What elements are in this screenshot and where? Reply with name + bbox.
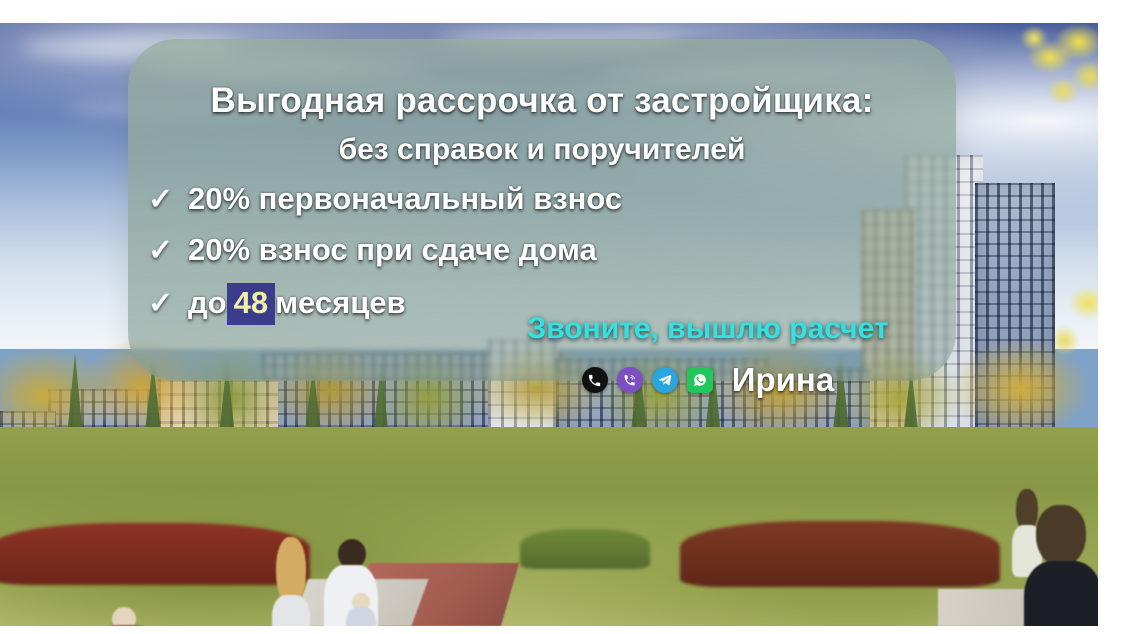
subheadline: без справок и поручителей bbox=[128, 133, 956, 167]
person-woman-left bbox=[268, 537, 314, 626]
green-hedge bbox=[520, 529, 650, 569]
red-hedge-right bbox=[680, 521, 1000, 587]
check-icon: ✓ bbox=[148, 233, 188, 268]
advertisement-page: Выгодная рассрочка от застройщика: без с… bbox=[0, 0, 1121, 634]
torso bbox=[1024, 561, 1098, 626]
contact-row: Ирина bbox=[488, 361, 928, 399]
torso bbox=[98, 625, 154, 626]
list-item-label-after: месяцев bbox=[275, 285, 405, 321]
list-item-label: 20% первоначальный взнос bbox=[188, 181, 622, 217]
check-icon: ✓ bbox=[148, 286, 188, 321]
hair bbox=[1036, 505, 1086, 567]
torso bbox=[346, 607, 376, 626]
head bbox=[112, 607, 136, 626]
person-child bbox=[342, 593, 380, 626]
torso bbox=[272, 595, 310, 626]
list-item-label-before: до bbox=[188, 285, 227, 321]
person-seated-left bbox=[96, 607, 156, 626]
contact-name: Ирина bbox=[732, 361, 834, 399]
whatsapp-icon[interactable] bbox=[687, 367, 713, 393]
red-hedge-left bbox=[0, 523, 310, 585]
telegram-icon[interactable] bbox=[652, 367, 678, 393]
list-item-label: 20% взнос при сдаче дома bbox=[188, 232, 597, 268]
list-item: ✓ 20% первоначальный взнос bbox=[148, 181, 788, 232]
list-item: ✓ 20% взнос при сдаче дома bbox=[148, 232, 788, 283]
viber-icon[interactable] bbox=[617, 367, 643, 393]
phone-icon[interactable] bbox=[582, 367, 608, 393]
offer-copy: Выгодная рассрочка от застройщика: без с… bbox=[128, 39, 956, 399]
call-to-action: Звоните, вышлю расчет bbox=[488, 312, 928, 346]
headline: Выгодная рассрочка от застройщика: bbox=[128, 81, 956, 121]
selected-term-highlight[interactable]: 48 bbox=[227, 283, 275, 325]
check-icon: ✓ bbox=[148, 182, 188, 217]
person-foreground-right bbox=[1018, 505, 1098, 626]
